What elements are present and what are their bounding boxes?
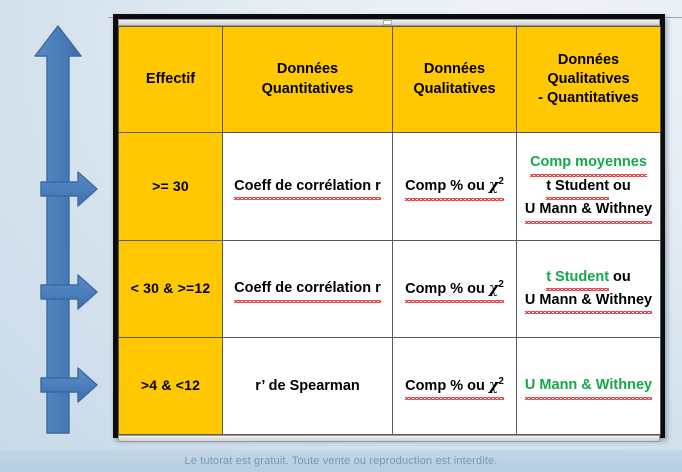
horizontal-scrollbar-bottom[interactable]: [118, 435, 660, 442]
cell-text: r’ de Spearman: [255, 378, 360, 394]
table-header: Effectif Données Quantitatives Données Q…: [119, 27, 661, 133]
header-line: Quantitatives: [226, 80, 389, 99]
cell-qualitatives: Comp % ou χ2: [393, 133, 517, 241]
footer-bar: Le tutorat est gratuit. Toute vente ou r…: [0, 450, 682, 472]
chi-symbol: χ: [489, 177, 499, 194]
table-row: >4 & <12 r’ de Spearman Comp % ou χ2 U M…: [119, 338, 661, 435]
header-line: Effectif: [122, 70, 219, 89]
header-line: Données: [520, 51, 657, 70]
cell-effectif: >= 30: [119, 133, 223, 241]
cell-mixed: t Student ou U Mann & Withney: [517, 241, 661, 338]
cell-qualitatives: Comp % ou χ2: [393, 338, 517, 435]
cell-quantitatives: r’ de Spearman: [223, 338, 393, 435]
table-row: >= 30 Coeff de corrélation r Comp % ou χ…: [119, 133, 661, 241]
statistics-table-frame: Effectif Données Quantitatives Données Q…: [113, 14, 665, 438]
mixed-line: U Mann & Withney: [520, 374, 657, 397]
mixed-text-spellchecked: Comp moyennes: [530, 151, 647, 174]
chi-exponent: 2: [498, 176, 503, 187]
chi-symbol: χ: [489, 280, 499, 297]
mixed-text-spellchecked: t Student: [546, 175, 609, 198]
header-line: Qualitatives: [520, 70, 657, 89]
cell-quantitatives: Coeff de corrélation r: [223, 241, 393, 338]
cell-text-spellchecked: Comp % ou χ2: [405, 174, 504, 198]
slide-canvas: Effectif Données Quantitatives Données Q…: [0, 0, 682, 472]
header-line: Qualitatives: [396, 80, 513, 99]
mixed-text-suffix: ou: [609, 178, 631, 194]
cell-mixed: U Mann & Withney: [517, 338, 661, 435]
mixed-line: t Student ou: [520, 175, 657, 198]
column-header-donnees-quantitatives: Données Quantitatives: [223, 27, 393, 133]
cell-mixed: Comp moyennes t Student ou U Mann & With…: [517, 133, 661, 241]
scrollbar-thumb-top[interactable]: [383, 20, 392, 25]
header-line: Données: [396, 60, 513, 79]
header-line: - Quantitatives: [520, 89, 657, 108]
comp-prefix: Comp % ou: [405, 378, 489, 394]
chi-exponent: 2: [498, 279, 503, 290]
column-header-donnees-qualitatives-quantitatives: Données Qualitatives - Quantitatives: [517, 27, 661, 133]
comp-prefix: Comp % ou: [405, 178, 489, 194]
up-arrow-shape: [35, 26, 81, 433]
cell-quantitatives: Coeff de corrélation r: [223, 133, 393, 241]
mixed-line: U Mann & Withney: [520, 198, 657, 221]
cell-text-spellchecked: Comp % ou χ2: [405, 277, 504, 301]
column-header-donnees-qualitatives: Données Qualitatives: [393, 27, 517, 133]
statistics-table: Effectif Données Quantitatives Données Q…: [118, 26, 661, 435]
header-row: Effectif Données Quantitatives Données Q…: [119, 27, 661, 133]
mixed-text-spellchecked: U Mann & Withney: [525, 289, 652, 312]
mixed-text-spellchecked: U Mann & Withney: [525, 374, 652, 397]
cell-text-spellchecked: Coeff de corrélation r: [234, 175, 381, 198]
cell-text-spellchecked: Coeff de corrélation r: [234, 277, 381, 300]
mixed-line: Comp moyennes: [520, 151, 657, 174]
horizontal-scrollbar-top[interactable]: [118, 19, 660, 26]
column-header-effectif: Effectif: [119, 27, 223, 133]
arrow-diagram: [0, 0, 110, 472]
table-body: >= 30 Coeff de corrélation r Comp % ou χ…: [119, 133, 661, 435]
chi-exponent: 2: [498, 376, 503, 387]
mixed-line: U Mann & Withney: [520, 289, 657, 312]
chi-symbol: χ: [489, 377, 499, 394]
mixed-text-suffix: ou: [609, 269, 631, 285]
mixed-text-spellchecked: U Mann & Withney: [525, 198, 652, 221]
header-line: Données: [226, 60, 389, 79]
footer-copyright-text: Le tutorat est gratuit. Toute vente ou r…: [185, 455, 498, 467]
mixed-text-spellchecked: t Student: [546, 266, 609, 289]
cell-effectif: < 30 & >=12: [119, 241, 223, 338]
cell-qualitatives: Comp % ou χ2: [393, 241, 517, 338]
cell-text-spellchecked: Comp % ou χ2: [405, 374, 504, 398]
mixed-line: t Student ou: [520, 266, 657, 289]
cell-effectif: >4 & <12: [119, 338, 223, 435]
table-row: < 30 & >=12 Coeff de corrélation r Comp …: [119, 241, 661, 338]
comp-prefix: Comp % ou: [405, 281, 489, 297]
